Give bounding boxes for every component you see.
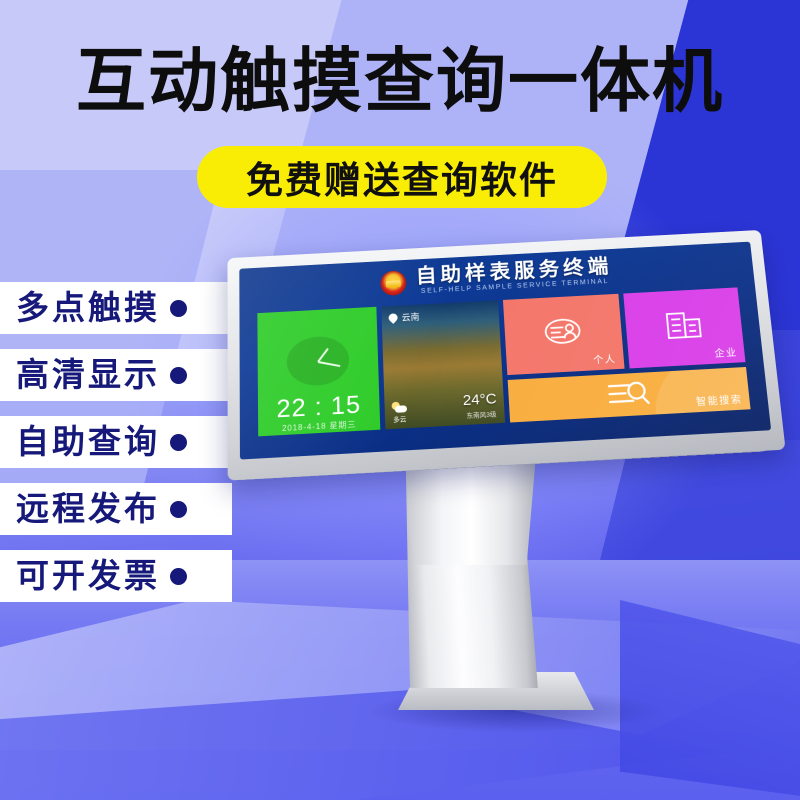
weather-location: 云南 (388, 310, 419, 324)
tile-weather[interactable]: 云南 多云 24°C 东南风3级 (381, 300, 505, 429)
screen-title-group: 自助样表服务终端 SELF-HELP SAMPLE SERVICE TERMIN… (415, 256, 613, 297)
kiosk-pedestal-curve (402, 455, 536, 565)
weather-condition: 多云 (392, 401, 408, 424)
tile-row-top: 个人 (503, 287, 746, 375)
clock-minute-hand (318, 361, 341, 367)
analog-clock-icon (286, 335, 349, 387)
weather-temperature: 24°C (462, 390, 497, 409)
weather-condition-label: 多云 (393, 416, 406, 424)
weather-location-label: 云南 (401, 310, 419, 323)
poster-canvas: 互动触摸查询一体机 免费赠送查询软件 多点触摸 高清显示 自助查询 远程发布 可… (0, 0, 800, 800)
tile-enterprise[interactable]: 企业 (623, 287, 746, 368)
tile-column-right: 个人 (503, 287, 751, 422)
tile-smart-search-label: 智能搜索 (695, 391, 743, 408)
person-card-icon (541, 315, 585, 348)
building-icon (663, 308, 704, 341)
monitor-bezel: 自助样表服务终端 SELF-HELP SAMPLE SERVICE TERMIN… (227, 230, 785, 481)
kiosk-device: 自助样表服务终端 SELF-HELP SAMPLE SERVICE TERMIN… (0, 0, 800, 800)
tile-clock[interactable]: 22 : 15 2018-4-18 星期三 (257, 307, 380, 437)
tile-smart-search[interactable]: 智能搜索 (508, 367, 751, 423)
search-list-icon (604, 376, 653, 410)
tile-grid: 22 : 15 2018-4-18 星期三 云南 (257, 287, 750, 436)
tile-personal[interactable]: 个人 (503, 294, 624, 375)
weather-wind: 东南风3级 (466, 408, 496, 420)
cloud-icon (395, 405, 407, 413)
touch-screen[interactable]: 自助样表服务终端 SELF-HELP SAMPLE SERVICE TERMIN… (239, 242, 771, 460)
tile-personal-label: 个人 (593, 351, 617, 367)
national-emblem-icon (380, 270, 406, 296)
sun-cloud-icon (392, 401, 408, 413)
tile-enterprise-label: 企业 (714, 344, 738, 360)
location-pin-icon (387, 312, 400, 324)
